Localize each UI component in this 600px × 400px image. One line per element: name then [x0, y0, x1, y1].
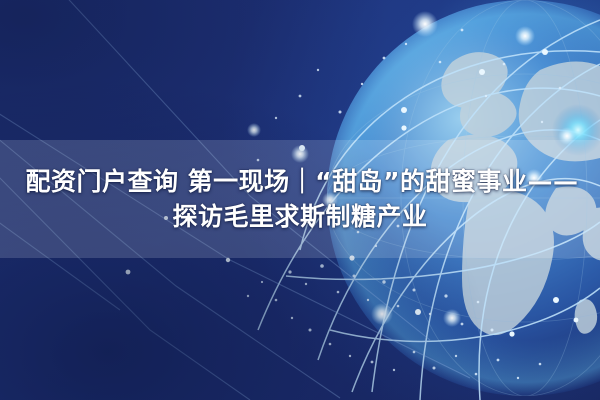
news-banner-image: 配资门户查询 第一现场｜“甜岛”的甜蜜事业—— 探访毛里求斯制糖产业 — [0, 0, 600, 400]
headline-line-1: 配资门户查询 第一现场｜“甜岛”的甜蜜事业—— — [21, 167, 578, 197]
headline-block: 配资门户查询 第一现场｜“甜岛”的甜蜜事业—— 探访毛里求斯制糖产业 — [0, 140, 600, 258]
headline-line-2: 探访毛里求斯制糖产业 — [172, 202, 427, 232]
